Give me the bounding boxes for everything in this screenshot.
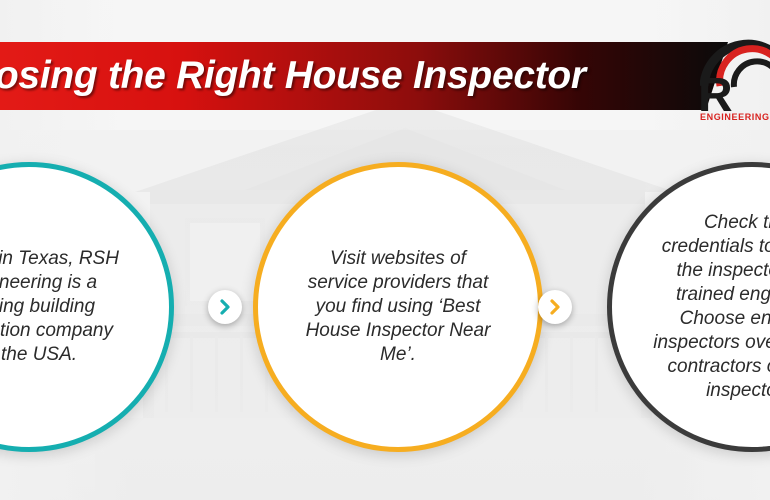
chevron-right-icon — [217, 299, 233, 315]
title-banner: Choosing the Right House Inspector — [0, 42, 728, 110]
chevron-right-icon — [547, 299, 563, 315]
step-text-3: Check their credentials to confirm the i… — [625, 211, 770, 403]
infographic-canvas: Choosing the Right House Inspector R ENG… — [0, 0, 770, 500]
logo-subtitle: ENGINEERING — [700, 112, 770, 122]
step-text-2: Visit websites of service providers that… — [278, 247, 518, 367]
step-circle-2[interactable]: Visit websites of service providers that… — [253, 162, 543, 452]
connector-arrow-1[interactable] — [208, 290, 242, 324]
page-title: Choosing the Right House Inspector — [0, 54, 586, 98]
step-text-1: Based in Texas, RSH Engineering is a lea… — [0, 247, 155, 367]
connector-arrow-2[interactable] — [538, 290, 572, 324]
rsh-logo: R ENGINEERING — [698, 30, 770, 122]
